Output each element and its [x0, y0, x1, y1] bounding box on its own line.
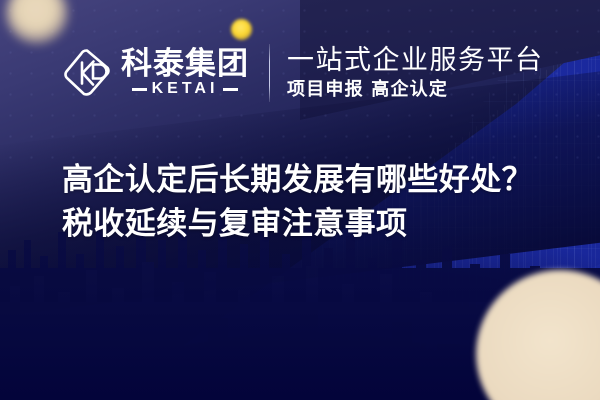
- logo-name-en-row: KETAI: [132, 81, 239, 97]
- headline-line-1: 高企认定后长期发展有哪些好处？: [62, 158, 562, 202]
- logo-name-cn: 科泰集团: [121, 49, 249, 81]
- tagline-block: 一站式企业服务平台 项目申报 高企认定: [287, 46, 544, 101]
- tagline-main: 一站式企业服务平台: [287, 46, 544, 76]
- header-divider: [269, 44, 270, 102]
- logo-name-en: KETAI: [152, 81, 219, 97]
- headline-line-2: 税收延续与复审注意事项: [62, 202, 562, 246]
- tagline-sub: 项目申报 高企认定: [287, 80, 544, 101]
- promo-banner: 科泰集团 KETAI 一站式企业服务平台 项目申报 高企认定 高企认定后长期发展…: [0, 0, 600, 400]
- company-logo[interactable]: 科泰集团 KETAI: [62, 47, 249, 99]
- ketai-diamond-monogram-icon: [62, 47, 112, 99]
- logo-dash-right: [223, 88, 238, 91]
- logo-dash-left: [132, 88, 147, 91]
- brand-header: 科泰集团 KETAI 一站式企业服务平台 项目申报 高企认定: [62, 44, 544, 102]
- gold-dot: [231, 19, 252, 40]
- headline-block: 高企认定后长期发展有哪些好处？ 税收延续与复审注意事项: [62, 158, 562, 246]
